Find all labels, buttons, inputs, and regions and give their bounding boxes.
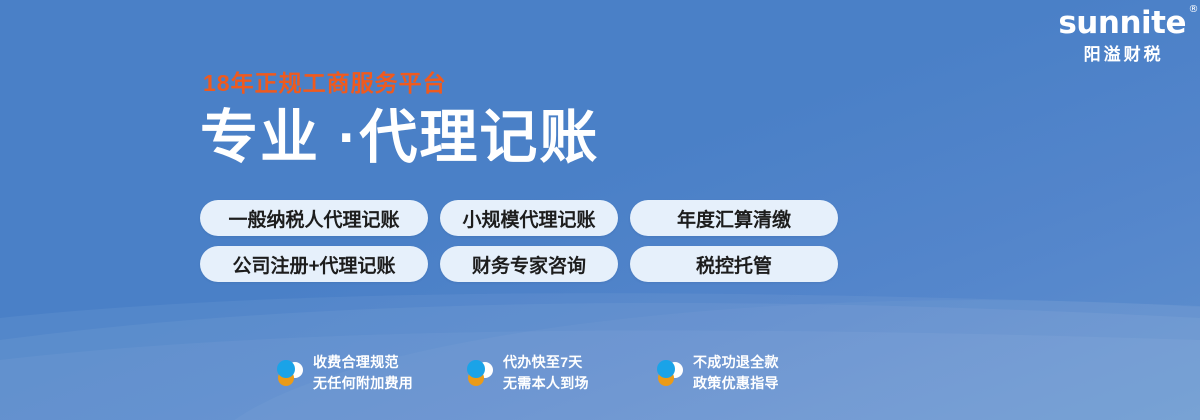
- registered-trademark-icon: ®: [1189, 5, 1199, 15]
- service-tag-row-1: 一般纳税人代理记账 小规模代理记账 年度汇算清缴: [200, 200, 838, 236]
- service-tag-finance-expert-consulting[interactable]: 财务专家咨询: [440, 246, 618, 282]
- feature-item-guarantee: 不成功退全款 政策优惠指导: [656, 352, 832, 394]
- two-tone-dots-icon: [466, 358, 494, 388]
- feature-line-2: 无任何附加费用: [313, 373, 413, 394]
- feature-line-2: 无需本人到场: [503, 373, 589, 394]
- feature-item-speed: 代办快至7天 无需本人到场: [466, 352, 642, 394]
- service-tag-row-2: 公司注册+代理记账 财务专家咨询 税控托管: [200, 246, 838, 282]
- service-tag-list: 一般纳税人代理记账 小规模代理记账 年度汇算清缴 公司注册+代理记账 财务专家咨…: [200, 200, 838, 292]
- feature-highlight-strip: 收费合理规范 无任何附加费用 代办快至7天 无需本人到场 不成功退全款: [276, 352, 832, 394]
- logo-wordmark: sunnite ®: [1058, 8, 1186, 39]
- feature-text-speed: 代办快至7天 无需本人到场: [503, 352, 589, 394]
- feature-text-pricing: 收费合理规范 无任何附加费用: [313, 352, 413, 394]
- hero-eyebrow: 18年正规工商服务平台: [203, 72, 599, 95]
- feature-line-1: 收费合理规范: [313, 352, 413, 373]
- service-tag-company-registration-bookkeeping[interactable]: 公司注册+代理记账: [200, 246, 428, 282]
- logo-wordmark-text: sunnite: [1058, 5, 1186, 41]
- two-tone-dots-icon: [276, 358, 304, 388]
- feature-line-1: 不成功退全款: [693, 352, 779, 373]
- logo-chinese-name: 阳溢财税: [1058, 46, 1186, 63]
- hero-headline: 专业 ·代理记账: [200, 109, 599, 167]
- service-tag-annual-settlement[interactable]: 年度汇算清缴: [630, 200, 838, 236]
- promo-banner: sunnite ® 阳溢财税 18年正规工商服务平台 专业 ·代理记账 一般纳税…: [0, 0, 1200, 420]
- service-tag-general-taxpayer-bookkeeping[interactable]: 一般纳税人代理记账: [200, 200, 428, 236]
- feature-item-pricing: 收费合理规范 无任何附加费用: [276, 352, 452, 394]
- service-tag-small-scale-bookkeeping[interactable]: 小规模代理记账: [440, 200, 618, 236]
- feature-line-1: 代办快至7天: [503, 352, 589, 373]
- service-tag-tax-control-hosting[interactable]: 税控托管: [630, 246, 838, 282]
- two-tone-dots-icon: [656, 358, 684, 388]
- feature-text-guarantee: 不成功退全款 政策优惠指导: [693, 352, 779, 394]
- brand-logo[interactable]: sunnite ® 阳溢财税: [1058, 8, 1186, 63]
- feature-line-2: 政策优惠指导: [693, 373, 779, 394]
- hero-text-block: 18年正规工商服务平台 专业 ·代理记账: [200, 72, 599, 167]
